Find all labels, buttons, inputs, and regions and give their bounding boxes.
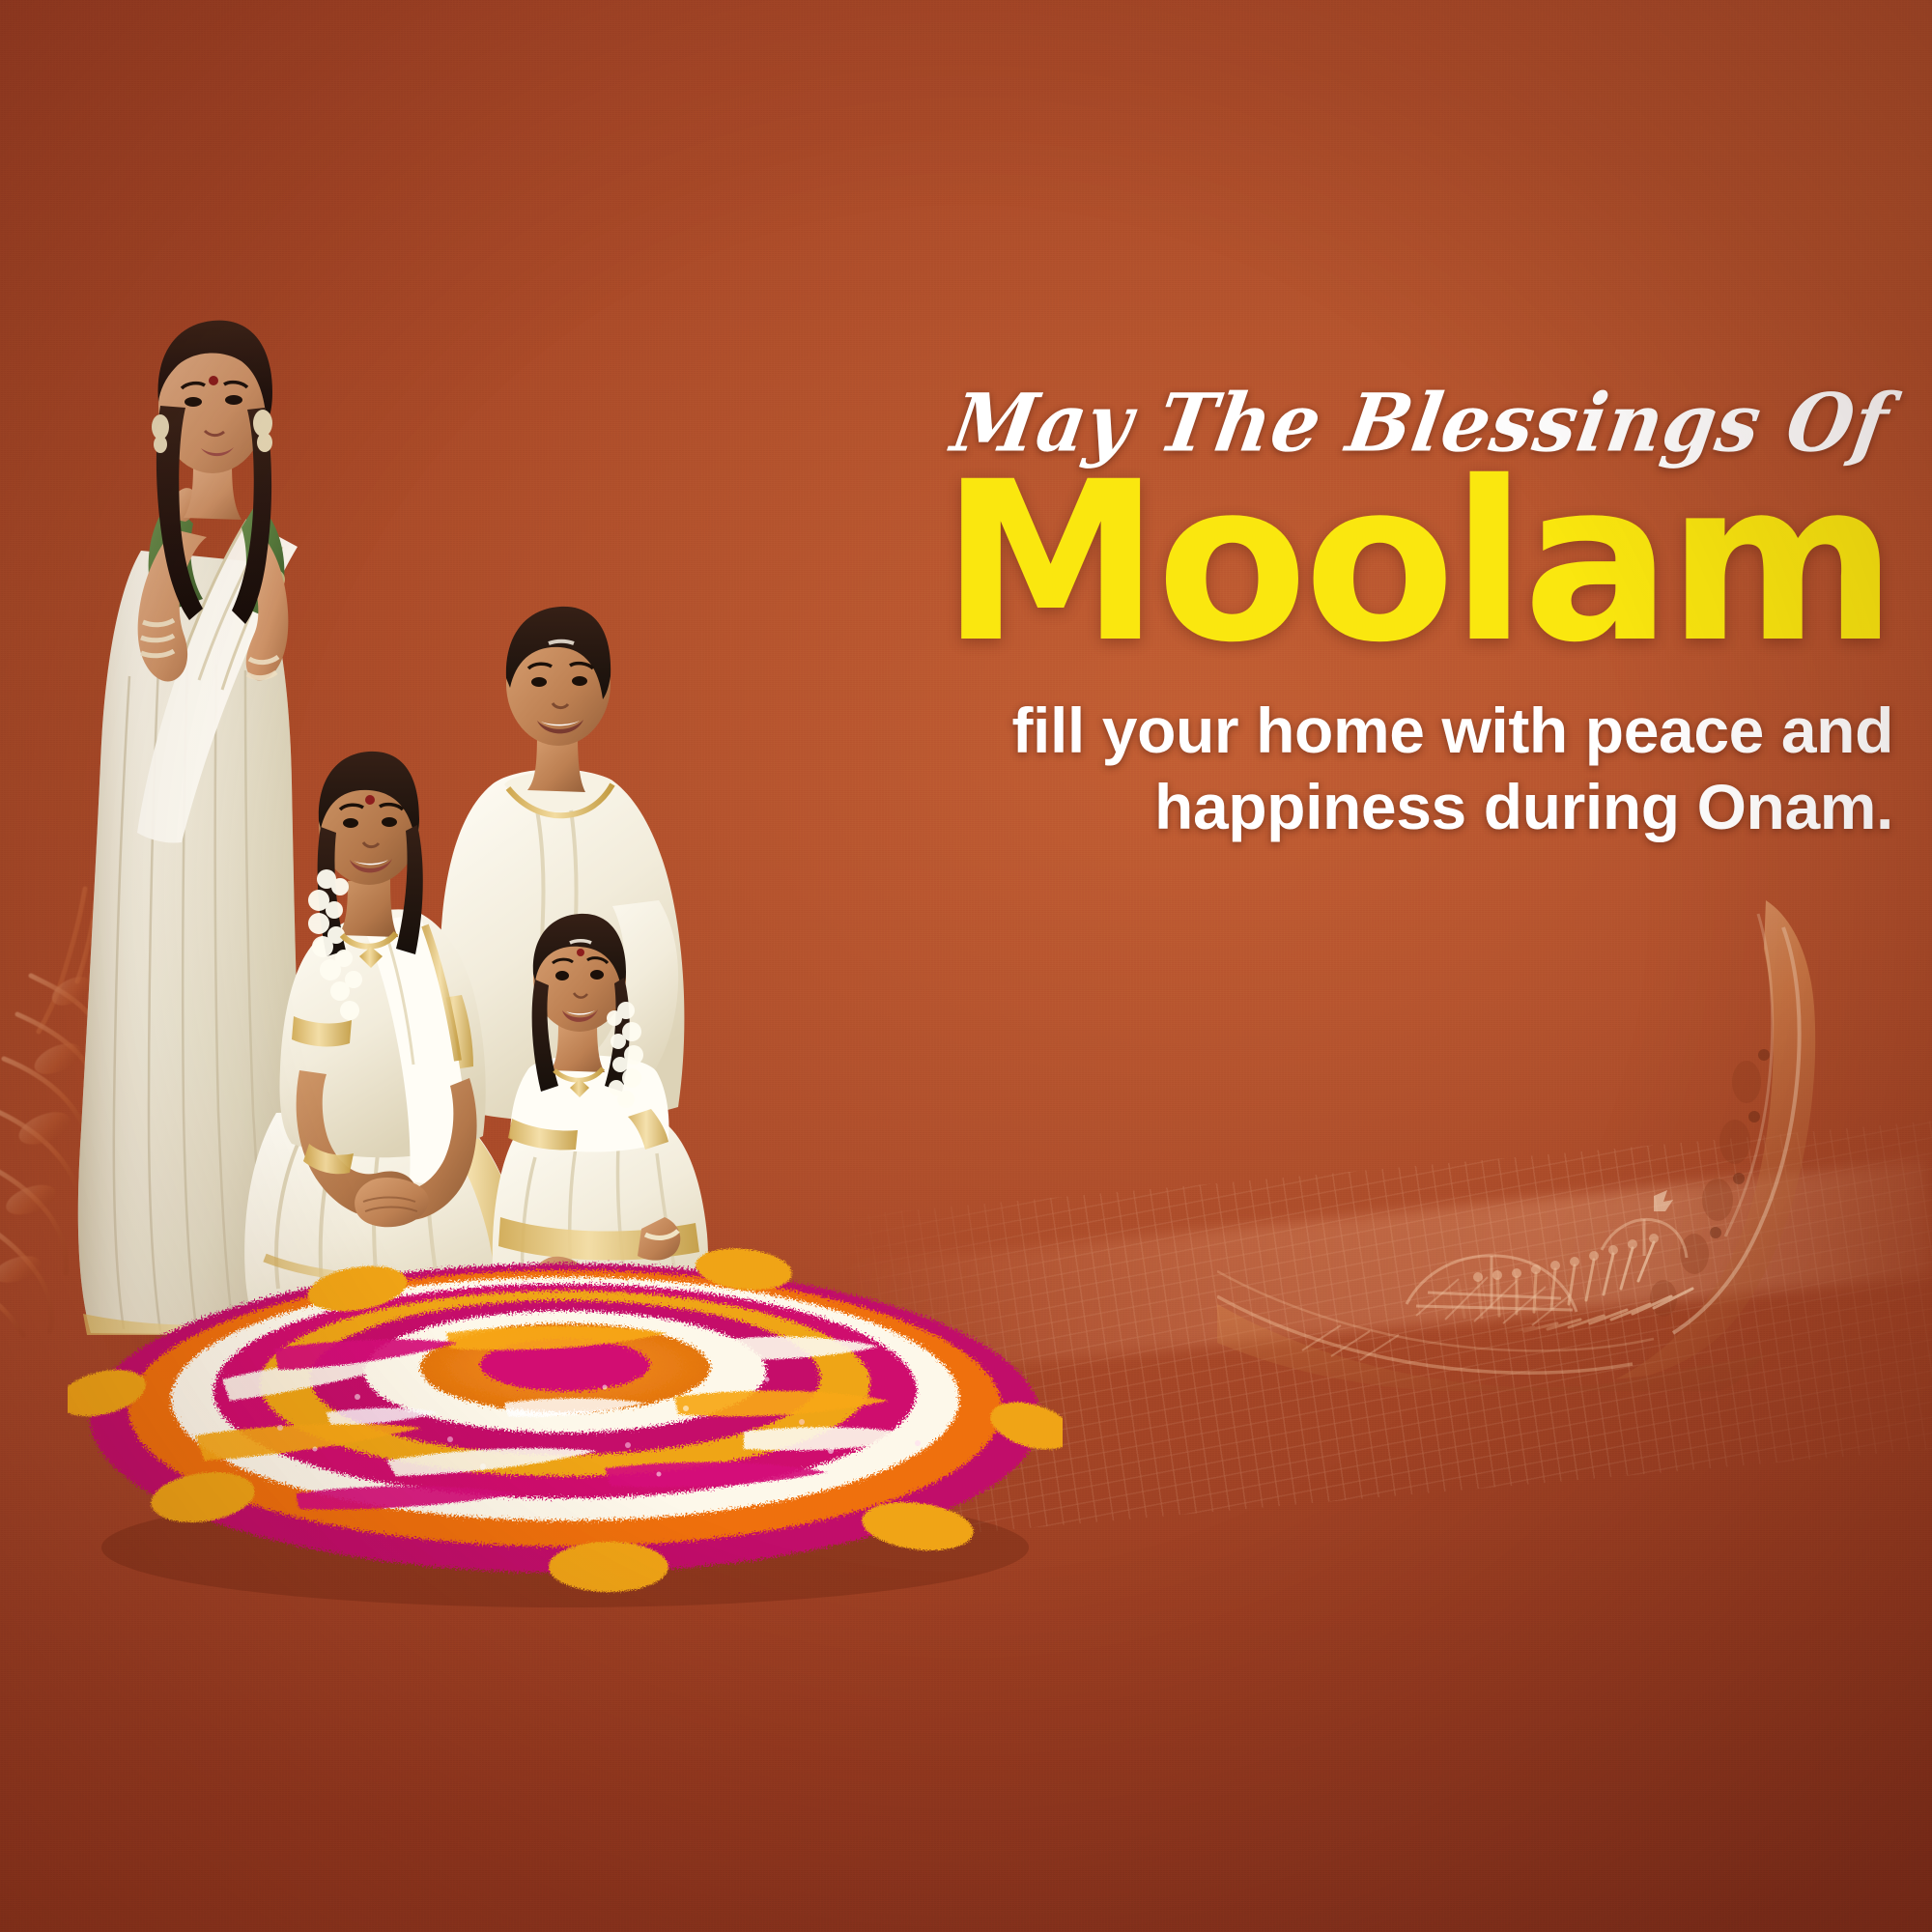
snake-boat-illustration-icon: [1217, 889, 1932, 1391]
greeting-headline: Moolam: [753, 458, 1893, 668]
fishing-net-texture: [831, 1121, 1932, 1546]
net-highlight-band: [847, 1161, 1932, 1380]
seated-family-figures: [241, 541, 763, 1362]
greeting-text-block: May The Blessings Of Moolam fill your ho…: [753, 386, 1893, 845]
onam-greeting-poster: May The Blessings Of Moolam fill your ho…: [0, 0, 1932, 1932]
greeting-subtitle-line-1: fill your home with peace and: [753, 693, 1893, 769]
greeting-subtitle: fill your home with peace and happiness …: [753, 693, 1893, 845]
greeting-eyebrow: May The Blessings Of: [747, 384, 1899, 465]
greeting-subtitle-line-2: happiness during Onam.: [753, 769, 1893, 845]
